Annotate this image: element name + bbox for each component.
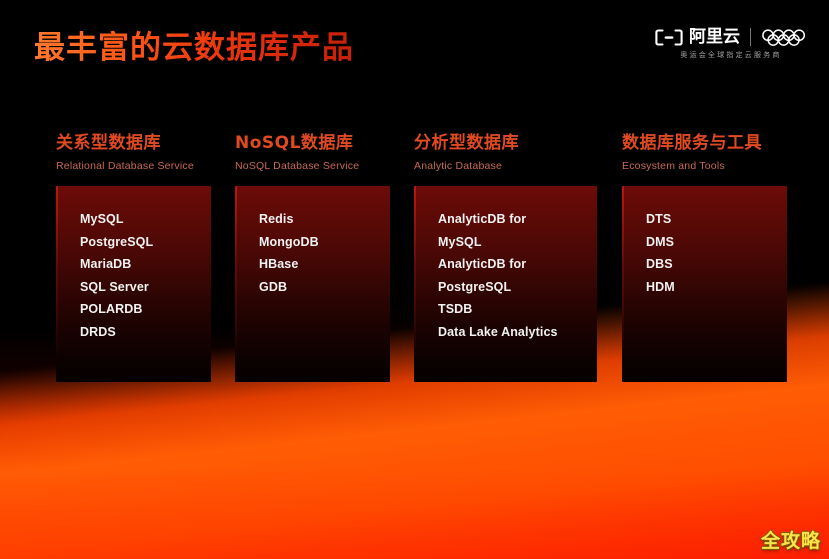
slide-canvas: 最丰富的云数据库产品 阿里云: [0, 0, 829, 559]
product-column-relational: 关系型数据库 Relational Database Service MySQL…: [56, 131, 211, 382]
column-panel: AnalyticDB for MySQL AnalyticDB for Post…: [414, 186, 597, 382]
brand-row: 阿里云: [655, 28, 807, 46]
list-item[interactable]: AnalyticDB for MySQL: [438, 208, 597, 253]
product-column-analytic: 分析型数据库 Analytic Database AnalyticDB for …: [414, 131, 597, 382]
column-title-en: Analytic Database: [414, 160, 597, 173]
list-item[interactable]: Data Lake Analytics: [438, 321, 597, 344]
olympic-rings-icon: [761, 29, 807, 46]
list-item[interactable]: AnalyticDB for PostgreSQL: [438, 253, 597, 298]
list-item[interactable]: TSDB: [438, 298, 597, 321]
product-column-ecosystem: 数据库服务与工具 Ecosystem and Tools DTS DMS DBS…: [622, 131, 787, 382]
product-list: DTS DMS DBS HDM: [622, 186, 787, 298]
column-title-en: NoSQL Database Service: [235, 160, 390, 173]
product-list: MySQL PostgreSQL MariaDB SQL Server POLA…: [56, 186, 211, 344]
list-item[interactable]: DRDS: [80, 321, 211, 344]
list-item[interactable]: DTS: [646, 208, 787, 231]
page-title: 最丰富的云数据库产品: [34, 28, 354, 68]
column-panel: Redis MongoDB HBase GDB: [235, 186, 390, 382]
column-panel: MySQL PostgreSQL MariaDB SQL Server POLA…: [56, 186, 211, 382]
column-title-en: Relational Database Service: [56, 160, 211, 173]
column-title-cn: NoSQL数据库: [235, 131, 390, 155]
list-item[interactable]: SQL Server: [80, 276, 211, 299]
product-list: Redis MongoDB HBase GDB: [235, 186, 390, 298]
list-item[interactable]: Redis: [259, 208, 390, 231]
list-item[interactable]: PostgreSQL: [80, 231, 211, 254]
watermark-label: 全攻略: [761, 526, 821, 553]
list-item[interactable]: GDB: [259, 276, 390, 299]
column-panel: DTS DMS DBS HDM: [622, 186, 787, 382]
brand-divider: [750, 28, 751, 46]
column-title-cn: 关系型数据库: [56, 131, 211, 155]
list-item[interactable]: MySQL: [80, 208, 211, 231]
column-title-en: Ecosystem and Tools: [622, 160, 787, 173]
list-item[interactable]: MongoDB: [259, 231, 390, 254]
alibaba-cloud-logo-icon: 阿里云: [655, 29, 740, 46]
brand-name-label: 阿里云: [689, 29, 740, 46]
brand-lockup: 阿里云 奥运会全球指定云服务商: [655, 28, 807, 60]
column-title-cn: 数据库服务与工具: [622, 131, 787, 155]
cloud-bracket-icon: [655, 29, 683, 46]
product-column-nosql: NoSQL数据库 NoSQL Database Service Redis Mo…: [235, 131, 390, 382]
list-item[interactable]: MariaDB: [80, 253, 211, 276]
column-title-cn: 分析型数据库: [414, 131, 597, 155]
list-item[interactable]: POLARDB: [80, 298, 211, 321]
list-item[interactable]: DMS: [646, 231, 787, 254]
list-item[interactable]: HDM: [646, 276, 787, 299]
brand-tagline: 奥运会全球指定云服务商: [680, 51, 781, 60]
product-list: AnalyticDB for MySQL AnalyticDB for Post…: [414, 186, 597, 344]
list-item[interactable]: DBS: [646, 253, 787, 276]
list-item[interactable]: HBase: [259, 253, 390, 276]
